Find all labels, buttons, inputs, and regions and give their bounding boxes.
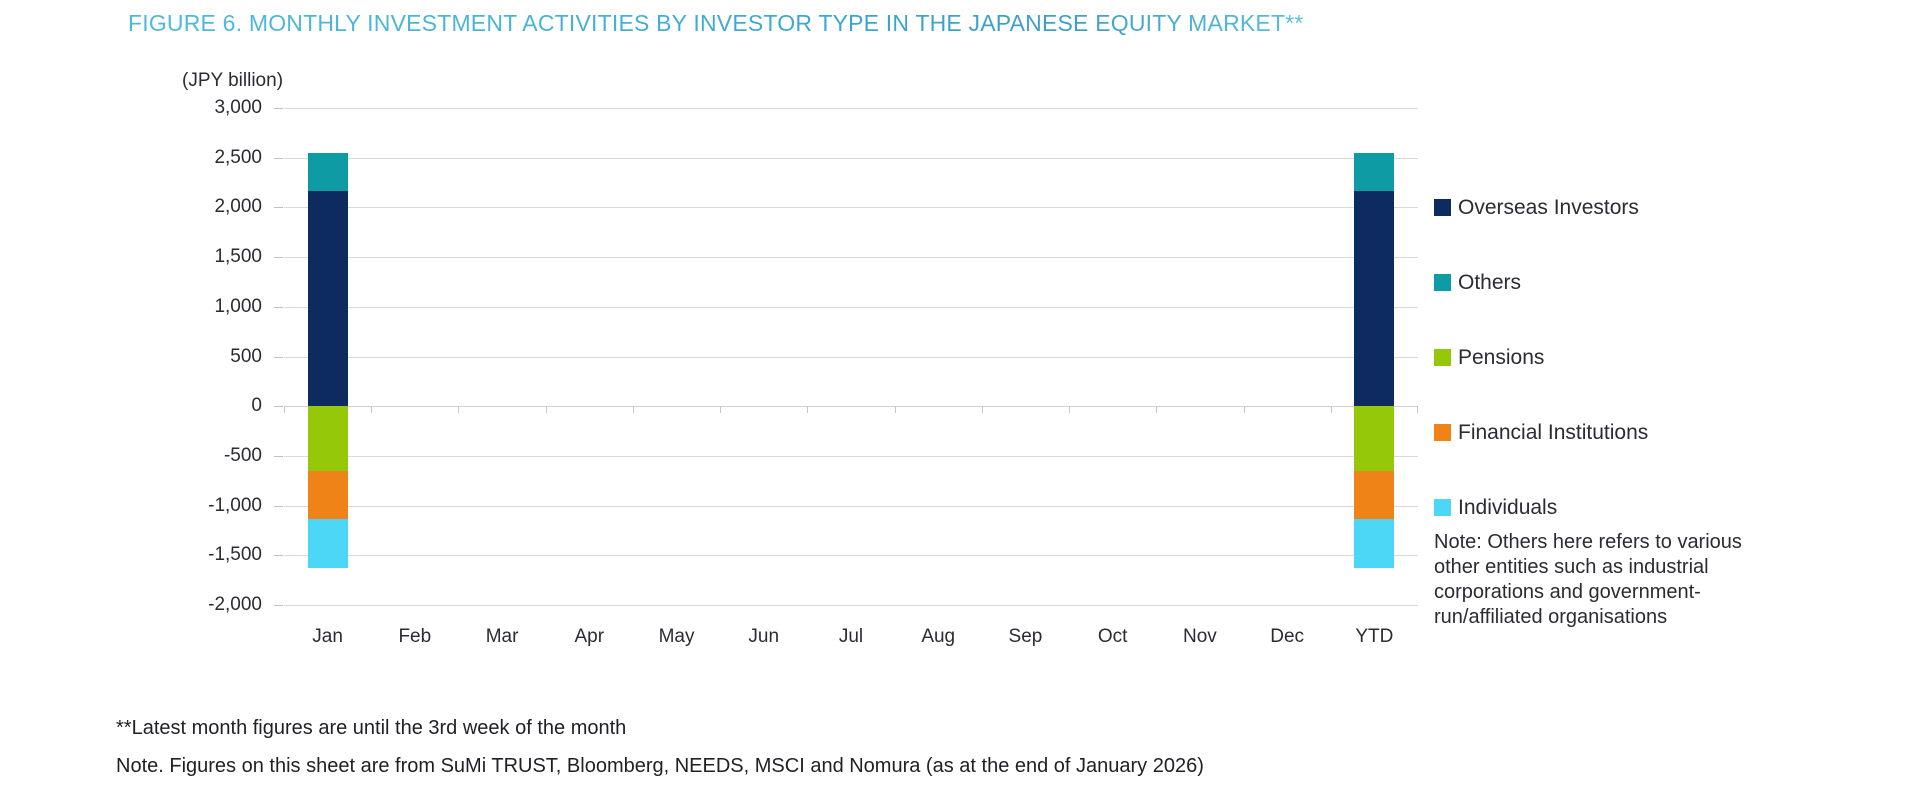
y-axis-tick-label: 500	[112, 347, 262, 366]
footnotes: **Latest month figures are until the 3rd…	[116, 718, 1616, 794]
y-axis-tick-label: 1,000	[112, 297, 262, 316]
y-axis-tick-mark	[274, 207, 283, 208]
y-axis-tick-label: -1,500	[112, 545, 262, 564]
legend-item-label: Pensions	[1458, 347, 1544, 368]
x-axis-tick-mark	[807, 406, 808, 413]
bar-column[interactable]	[308, 108, 348, 605]
legend-note: Note: Others here refers to various othe…	[1434, 530, 1764, 630]
y-axis-tick-mark	[274, 108, 283, 109]
footnote-text: **Latest month figures are until the 3rd…	[116, 718, 1616, 738]
bar-segment[interactable]	[308, 471, 348, 519]
chart-legend: Overseas InvestorsOthersPensionsFinancia…	[1434, 170, 1854, 545]
bar-segment[interactable]	[1354, 153, 1394, 192]
x-axis-tick-label: Jul	[807, 627, 894, 646]
x-axis-tick-label: Nov	[1156, 627, 1243, 646]
bar-column[interactable]	[657, 108, 697, 605]
x-axis-tick-mark	[982, 406, 983, 413]
x-axis-tick-label: Jan	[284, 627, 371, 646]
page-title: FIGURE 6. MONTHLY INVESTMENT ACTIVITIES …	[128, 10, 1304, 37]
x-axis-tick-label: Oct	[1069, 627, 1156, 646]
bar-column[interactable]	[395, 108, 435, 605]
y-axis-tick-mark	[274, 555, 283, 556]
gridline	[284, 605, 1418, 606]
y-axis-tick-mark	[274, 158, 283, 159]
y-axis-tick-mark	[274, 506, 283, 507]
y-axis-tick-label: 2,500	[112, 148, 262, 167]
bar-column[interactable]	[1093, 108, 1133, 605]
legend-item-label: Overseas Investors	[1458, 197, 1639, 218]
x-axis-tick-label: Feb	[371, 627, 458, 646]
y-axis-unit-label: (JPY billion)	[182, 70, 283, 92]
footnote-text: Note. Figures on this sheet are from SuM…	[116, 756, 1616, 776]
y-axis-tick-mark	[274, 257, 283, 258]
x-axis-tick-mark	[720, 406, 721, 413]
y-axis-tick-mark	[274, 307, 283, 308]
y-axis-tick-label: 2,000	[112, 197, 262, 216]
y-axis-tick-label: -1,000	[112, 496, 262, 515]
bar-segment[interactable]	[1354, 471, 1394, 519]
y-axis-tick-mark	[274, 406, 283, 407]
x-axis-tick-label: Mar	[458, 627, 545, 646]
y-axis-tick-label: -2,000	[112, 595, 262, 614]
x-axis-tick-mark	[633, 406, 634, 413]
bar-column[interactable]	[1005, 108, 1045, 605]
bar-column[interactable]	[1267, 108, 1307, 605]
bar-segment[interactable]	[1354, 519, 1394, 569]
bar-column[interactable]	[831, 108, 871, 605]
x-axis-tick-label: Apr	[546, 627, 633, 646]
x-axis-tick-mark	[1069, 406, 1070, 413]
legend-swatch-icon	[1434, 499, 1451, 516]
bar-column[interactable]	[744, 108, 784, 605]
bar-column[interactable]	[918, 108, 958, 605]
x-axis-tick-label: May	[633, 627, 720, 646]
bar-segment[interactable]	[308, 406, 348, 471]
legend-item-label: Financial Institutions	[1458, 422, 1648, 443]
legend-swatch-icon	[1434, 199, 1451, 216]
bar-segment[interactable]	[1354, 191, 1394, 406]
x-axis-tick-mark	[1331, 406, 1332, 413]
bar-column[interactable]	[1354, 108, 1394, 605]
bar-column[interactable]	[569, 108, 609, 605]
y-axis-tick-mark	[274, 456, 283, 457]
legend-swatch-icon	[1434, 349, 1451, 366]
x-axis-tick-mark	[1244, 406, 1245, 413]
bar-segment[interactable]	[1354, 406, 1394, 471]
x-axis-tick-mark	[546, 406, 547, 413]
y-axis-tick-label: -500	[112, 446, 262, 465]
x-axis-tick-mark	[371, 406, 372, 413]
x-axis-tick-label: YTD	[1331, 627, 1418, 646]
y-axis-tick-mark	[274, 357, 283, 358]
bar-column[interactable]	[482, 108, 522, 605]
x-axis-tick-mark	[1417, 406, 1418, 413]
bar-segment[interactable]	[308, 519, 348, 569]
y-axis-tick-label: 3,000	[112, 98, 262, 117]
y-axis-tick-label: 1,500	[112, 247, 262, 266]
x-axis-tick-mark	[1156, 406, 1157, 413]
x-axis-tick-label: Aug	[895, 627, 982, 646]
bar-column[interactable]	[1180, 108, 1220, 605]
plot-area	[284, 108, 1418, 605]
legend-item[interactable]: Overseas Investors	[1434, 170, 1854, 245]
legend-item-label: Others	[1458, 272, 1521, 293]
x-axis-tick-label: Dec	[1244, 627, 1331, 646]
legend-swatch-icon	[1434, 274, 1451, 291]
legend-item[interactable]: Others	[1434, 245, 1854, 320]
x-axis-tick-mark	[895, 406, 896, 413]
legend-item[interactable]: Financial Institutions	[1434, 395, 1854, 470]
y-axis-tick-mark	[274, 605, 283, 606]
x-axis-tick-mark	[458, 406, 459, 413]
chart-container: (JPY billion) 3,0002,5002,0001,5001,0005…	[0, 70, 1460, 690]
x-axis-tick-label: Sep	[982, 627, 1069, 646]
legend-item[interactable]: Pensions	[1434, 320, 1854, 395]
bar-segment[interactable]	[308, 191, 348, 406]
x-axis-tick-label: Jun	[720, 627, 807, 646]
legend-swatch-icon	[1434, 424, 1451, 441]
x-axis-tick-mark	[284, 406, 285, 413]
y-axis-tick-label: 0	[112, 396, 262, 415]
legend-item-label: Individuals	[1458, 497, 1557, 518]
bar-segment[interactable]	[308, 153, 348, 192]
